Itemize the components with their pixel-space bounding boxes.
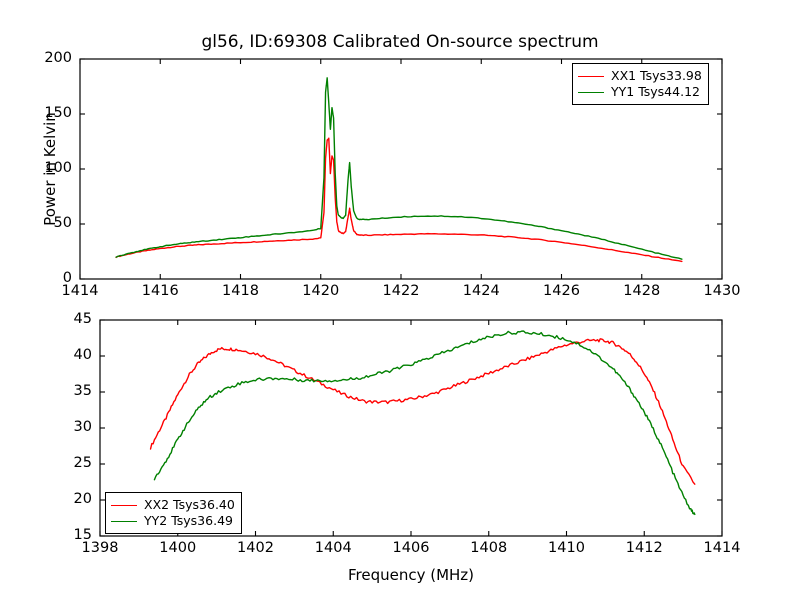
legend-color-swatch [578, 92, 604, 93]
x-tick-label: 1428 [616, 283, 668, 299]
x-tick-label: 1404 [307, 540, 359, 556]
legend-color-swatch [578, 76, 604, 77]
y-tick-label: 100 [22, 160, 72, 176]
legend-lower-entry: XX2 Tsys36.40 [111, 497, 235, 513]
legend-lower-entry: YY2 Tsys36.49 [111, 513, 235, 529]
x-tick-label: 1424 [455, 283, 507, 299]
legend-label: XX2 Tsys36.40 [144, 497, 235, 513]
x-tick-label: 1426 [536, 283, 588, 299]
y-tick-label: 150 [22, 105, 72, 121]
x-tick-label: 1416 [134, 283, 186, 299]
x-tick-label: 1412 [618, 540, 670, 556]
x-tick-label: 1414 [696, 540, 748, 556]
x-tick-label: 1406 [385, 540, 437, 556]
legend-label: YY1 Tsys44.12 [611, 84, 700, 100]
y-tick-label: 25 [42, 455, 92, 471]
legend-lower-panel: XX2 Tsys36.40YY2 Tsys36.49 [105, 492, 242, 534]
y-tick-label: 45 [42, 311, 92, 327]
legend-upper-panel: XX1 Tsys33.98YY1 Tsys44.12 [572, 63, 709, 105]
page-title: gl56, ID:69308 Calibrated On-source spec… [0, 32, 800, 52]
y-tick-label: 35 [42, 383, 92, 399]
legend-label: XX1 Tsys33.98 [611, 68, 702, 84]
legend-label: YY2 Tsys36.49 [144, 513, 233, 529]
x-tick-label: 1420 [295, 283, 347, 299]
x-tick-label: 1430 [696, 283, 748, 299]
x-axis-label: Frequency (MHz) [100, 566, 722, 584]
y-tick-label: 50 [22, 215, 72, 231]
y-tick-label: 40 [42, 347, 92, 363]
y-tick-label: 15 [42, 527, 92, 543]
x-tick-label: 1408 [463, 540, 515, 556]
y-tick-label: 200 [22, 50, 72, 66]
x-tick-label: 1400 [152, 540, 204, 556]
x-tick-label: 1410 [541, 540, 593, 556]
y-tick-label: 0 [22, 270, 72, 286]
legend-color-swatch [111, 521, 137, 522]
y-tick-label: 20 [42, 491, 92, 507]
legend-upper-entry: YY1 Tsys44.12 [578, 84, 702, 100]
y-tick-label: 30 [42, 419, 92, 435]
x-tick-label: 1418 [215, 283, 267, 299]
legend-color-swatch [111, 505, 137, 506]
figure-canvas: gl56, ID:69308 Calibrated On-source spec… [0, 0, 800, 600]
x-tick-label: 1422 [375, 283, 427, 299]
x-tick-label: 1402 [230, 540, 282, 556]
legend-upper-entry: XX1 Tsys33.98 [578, 68, 702, 84]
